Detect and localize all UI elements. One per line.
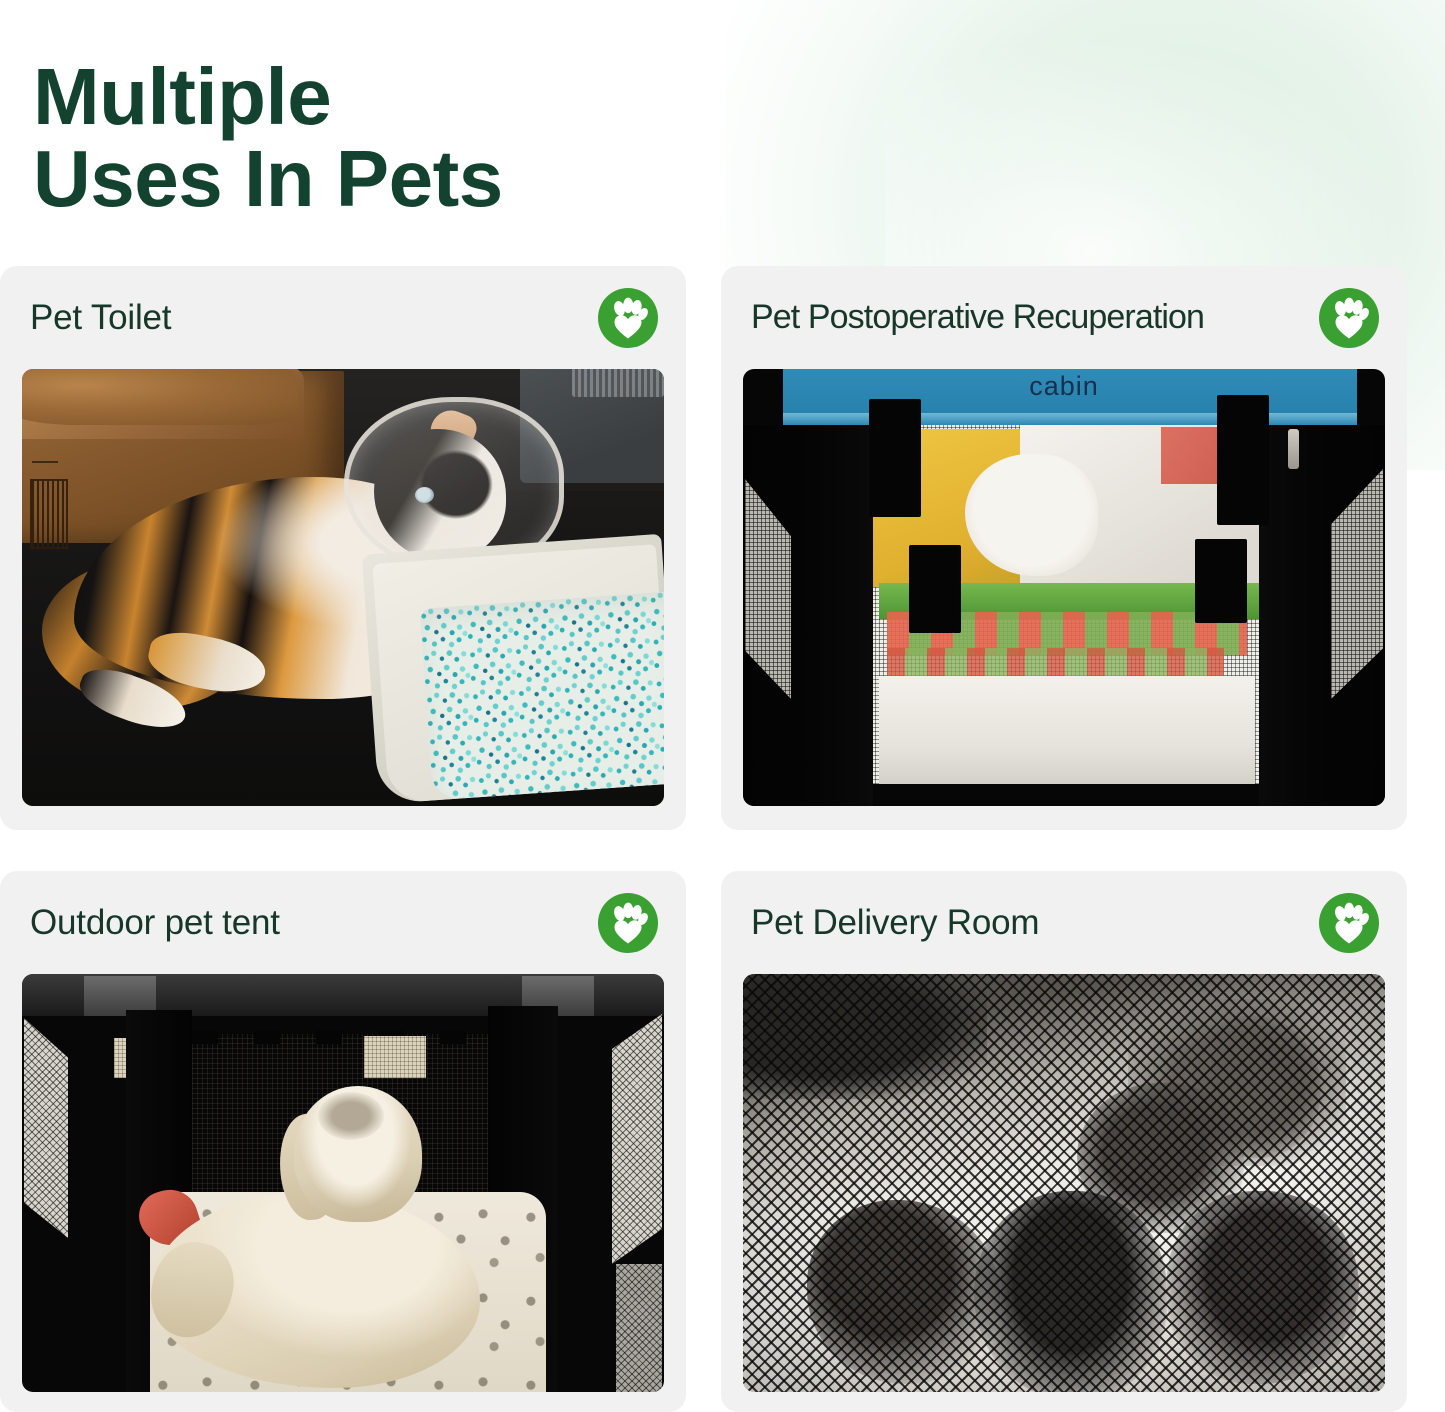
card-title: Pet Toilet	[30, 298, 171, 338]
page-title: Multiple Uses In Pets	[33, 56, 793, 221]
card-header: Pet Postoperative Recuperation	[721, 266, 1407, 369]
use-case-row-1: Pet Toilet	[0, 266, 1445, 830]
photo-cat-litter-box	[22, 369, 664, 806]
paw-icon	[598, 288, 658, 348]
card-header: Outdoor pet tent	[0, 871, 686, 974]
use-case-grid: Pet Toilet	[0, 266, 1445, 1412]
paw-icon	[1319, 893, 1379, 953]
use-case-card-pet-delivery-room[interactable]: Pet Delivery Room	[721, 871, 1407, 1412]
use-case-card-pet-toilet[interactable]: Pet Toilet	[0, 266, 686, 830]
card-title: Pet Postoperative Recuperation	[751, 298, 1204, 337]
photo-kittens-behind-mesh	[743, 974, 1385, 1392]
card-header: Pet Delivery Room	[721, 871, 1407, 974]
use-case-card-outdoor-pet-tent[interactable]: Outdoor pet tent	[0, 871, 686, 1412]
carrier-brand-text: cabin	[743, 371, 1385, 402]
use-case-row-2: Outdoor pet tent	[0, 871, 1445, 1412]
paw-icon	[598, 893, 658, 953]
infographic-page: Multiple Uses In Pets Pet Toilet	[0, 0, 1445, 1412]
photo-pet-carrier-blanket: cabin	[743, 369, 1385, 806]
use-case-card-pet-postoperative-recuperation[interactable]: Pet Postoperative Recuperation	[721, 266, 1407, 830]
paw-icon	[1319, 288, 1379, 348]
card-title: Outdoor pet tent	[30, 903, 280, 943]
card-title: Pet Delivery Room	[751, 903, 1039, 943]
photo-dog-in-tent	[22, 974, 664, 1392]
card-header: Pet Toilet	[0, 266, 686, 369]
